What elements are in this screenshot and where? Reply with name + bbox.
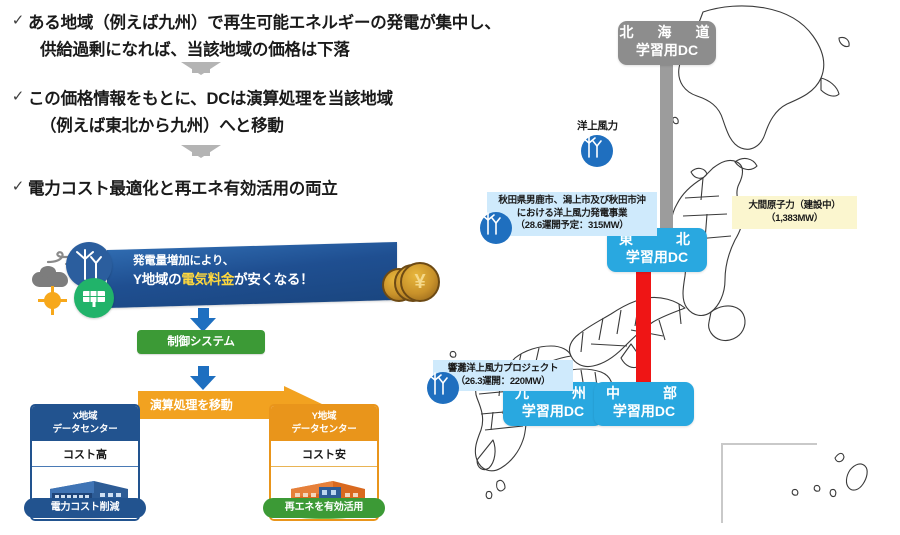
banner-line-2-prefix: Y地域の <box>133 272 181 287</box>
datacenter-y-cost: コスト安 <box>271 441 377 467</box>
datacenter-x-cost: コスト高 <box>32 441 138 467</box>
datacenter-x-region: X地域 <box>32 410 138 423</box>
wind-turbine-icon-akita <box>480 212 512 244</box>
bullet-2-line-1: この価格情報をもとに、DCは演算処理を当該地域 <box>28 90 393 108</box>
slide-canvas: ✓ ある地域（例えば九州）で再生可能エネルギーの発電が集中し、 供給過剰になれば… <box>0 0 900 535</box>
akita-tag-line-2: における洋上風力発電事業 <box>492 208 652 221</box>
akita-tag-line-3: （28.6運開予定：315MW） <box>492 220 652 233</box>
checkmark-icon-2: ✓ <box>8 86 28 108</box>
sun-icon <box>44 292 61 309</box>
bullet-1-line-1: ある地域（例えば九州）で再生可能エネルギーの発電が集中し、 <box>28 14 501 32</box>
bullet-text-3: 電力コスト最適化と再エネ有効活用の両立 <box>28 176 338 203</box>
bullet-text-1: ある地域（例えば九州）で再生可能エネルギーの発電が集中し、 供給過剰になれば、当… <box>28 10 501 64</box>
hibikinada-tag-line-1: 響灘洋上風力プロジェクト <box>438 363 568 376</box>
power-cost-reduction-pill: 電力コスト削減 <box>24 498 146 518</box>
okinawa-inset-frame <box>721 443 817 523</box>
oma-tag-line-2: （1,383MW） <box>738 213 851 226</box>
banner-highlight: 電気料金 <box>181 272 234 287</box>
akita-offshore-wind-tag: 秋田県男鹿市、潟上市及び秋田市沖 における洋上風力発電事業 （28.6運開予定：… <box>487 192 657 236</box>
datacenter-y-header: Y地域 データセンター <box>271 406 377 441</box>
checkmark-icon-3: ✓ <box>8 176 28 198</box>
bullet-3-line-1: 電力コスト最適化と再エネ有効活用の両立 <box>28 180 338 198</box>
oma-nuclear-tag: 大間原子力（建設中） （1,383MW） <box>732 196 857 229</box>
bullet-1-line-2: 供給過剰になれば、当該地域の価格は下落 <box>28 37 501 64</box>
datacenter-y-region: Y地域 <box>271 410 377 423</box>
solar-panel-icon <box>74 278 114 318</box>
datacenter-y-subtitle: データセンター <box>271 423 377 436</box>
connector-hokkaido-tohoku <box>660 58 673 238</box>
dc-tohoku-label: 学習用DC <box>607 248 707 266</box>
dc-chubu-label: 学習用DC <box>594 402 694 420</box>
down-arrow-to-control <box>190 308 216 332</box>
dc-hokkaido-region: 北 海 道 <box>618 21 716 41</box>
flow-arrow-2 <box>181 145 221 169</box>
renewable-utilization-pill: 再エネを有効活用 <box>263 498 385 518</box>
checkmark-icon-1: ✓ <box>8 10 28 32</box>
bullet-item-2: ✓ この価格情報をもとに、DCは演算処理を当該地域 （例えば東北から九州）へと移… <box>8 86 393 140</box>
bullet-text-2: この価格情報をもとに、DCは演算処理を当該地域 （例えば東北から九州）へと移動 <box>28 86 393 140</box>
banner-line-2: Y地域の電気料金が安くなる！ <box>133 269 397 291</box>
datacenter-x-header: X地域 データセンター <box>32 406 138 441</box>
wind-turbine-icon-hokkaido <box>581 135 613 167</box>
price-drop-banner: 発電量増加により、 Y地域の電気料金が安くなる！ <box>107 242 397 308</box>
dc-box-hokkaido[interactable]: 北 海 道 学習用DC <box>618 21 716 65</box>
dc-kyushu-label: 学習用DC <box>503 402 603 420</box>
wind-turbine-icon-kyushu <box>427 372 459 404</box>
japan-map: 北 海 道 学習用DC 東 北 学習用DC 九 州 学習用DC 中 部 学習用D… <box>435 0 900 535</box>
datacenter-x-subtitle: データセンター <box>32 423 138 436</box>
banner-line-2-suffix: が安くなる！ <box>234 272 313 287</box>
bullet-item-1: ✓ ある地域（例えば九州）で再生可能エネルギーの発電が集中し、 供給過剰になれば… <box>8 10 501 64</box>
yen-symbol: ¥ <box>414 272 425 292</box>
oma-tag-line-1: 大間原子力（建設中） <box>738 200 851 213</box>
control-system-box: 制御システム <box>137 330 265 354</box>
banner-line-1: 発電量増加により、 <box>133 253 397 269</box>
offshore-wind-label: 洋上風力 <box>577 118 618 133</box>
cloud-icon <box>32 272 68 287</box>
bullet-item-3: ✓ 電力コスト最適化と再エネ有効活用の両立 <box>8 176 338 203</box>
dc-box-chubu[interactable]: 中 部 学習用DC <box>594 382 694 426</box>
yen-coins-icon: ¥ <box>382 260 440 310</box>
connector-tohoku-chubu <box>636 264 651 392</box>
bullet-2-line-2: （例えば東北から九州）へと移動 <box>28 113 393 140</box>
flow-arrow-1 <box>181 62 221 86</box>
cost-optimization-diagram: 発電量増加により、 Y地域の電気料金が安くなる！ <box>22 236 432 516</box>
dc-chubu-region: 中 部 <box>594 382 694 402</box>
akita-tag-line-1: 秋田県男鹿市、潟上市及び秋田市沖 <box>492 195 652 208</box>
bullet-list: ✓ ある地域（例えば九州）で再生可能エネルギーの発電が集中し、 供給過剰になれば… <box>0 0 470 210</box>
dc-hokkaido-label: 学習用DC <box>618 41 716 59</box>
